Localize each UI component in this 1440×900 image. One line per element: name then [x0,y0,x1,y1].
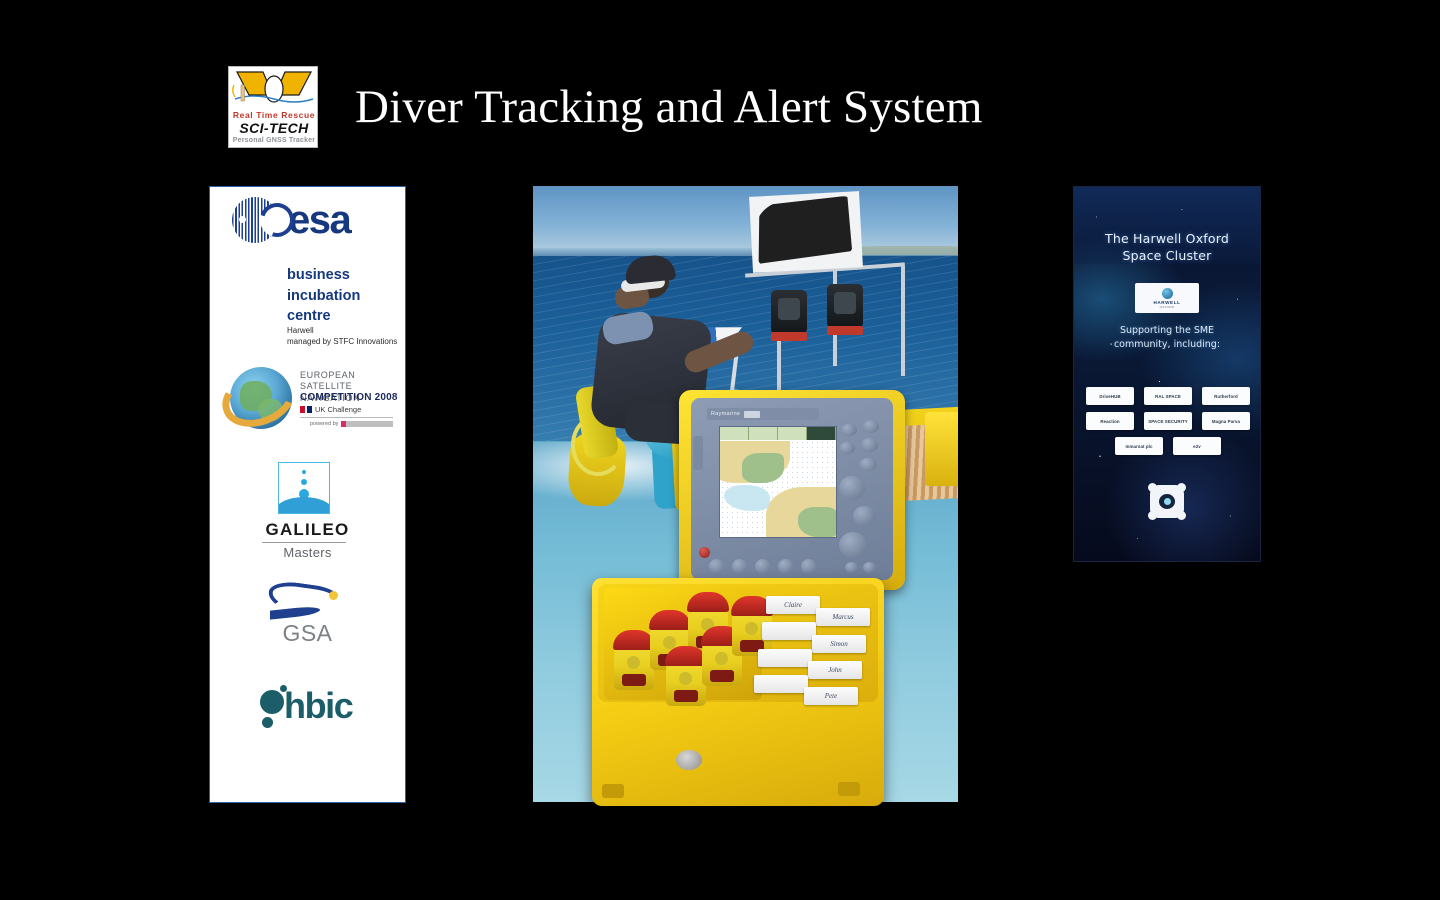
partner-logo[interactable]: Rutherford [1202,387,1250,405]
esa-sub-line-1: business [287,265,360,286]
plotter-key-aux-1[interactable] [845,562,858,573]
case-foot [602,784,624,798]
case-feet [592,782,884,798]
esa-logo-mark: esa [232,197,350,243]
partner-logo[interactable]: Inmarsat plc [1115,437,1163,455]
plotter-soft-button[interactable] [778,559,793,574]
name-card[interactable]: Simon [812,635,866,653]
logo-galileo-masters: GALILEO Masters [210,454,405,572]
cluster-icon-node-bl [1148,511,1157,520]
plotter-model-chip [744,411,760,418]
marine-chartplotter[interactable]: Raymarine [679,390,905,590]
partner-logo-grid: DriveHUB RAL SPACE Rutherford Reaction S… [1084,387,1252,455]
plotter-key-rotary[interactable] [853,506,875,526]
chart-landmass-north [719,441,790,483]
hbic-logo-mark: hbic [260,684,370,732]
page-title: Diver Tracking and Alert System [355,84,983,131]
plotter-key-aux-2[interactable] [863,562,876,573]
esnc-line-4: UK Challenge [315,405,361,414]
cluster-subtitle-line-1: Supporting the SME [1074,324,1260,338]
harwell-dot-icon [1162,288,1173,299]
harwell-badge: HARWELL OXFORD [1135,283,1199,313]
esa-sub-line-3: centre [287,306,360,327]
name-card[interactable] [762,622,816,640]
logo-esnc-2008: EUROPEAN SATELLITE NAVIGATION COMPETITIO… [210,359,405,454]
esnc-sponsor-mark-icon [341,421,393,427]
logo-esa-bic: esa business incubation centre Harwell m… [210,187,405,359]
cluster-title: The Harwell Oxford Space Cluster [1074,231,1260,265]
plotter-key-zoom-in[interactable] [839,442,855,454]
chart-landmass-south [766,487,837,538]
esnc-line-3: COMPETITION 2008 [300,392,398,403]
plotter-soft-button[interactable] [801,559,816,574]
sponsor-logo-panel: esa business incubation centre Harwell m… [209,186,406,803]
galileo-dot-small [302,470,306,474]
plotter-key-page[interactable] [863,420,879,433]
plotter-soft-button[interactable] [709,559,724,574]
harwell-space-cluster-panel: The Harwell Oxford Space Cluster HARWELL… [1073,186,1261,562]
case-foot [838,782,860,796]
tracker-window [674,690,698,702]
camera-housing-2 [827,284,863,328]
galileo-emblem-icon [278,462,330,514]
harwell-badge-sub: OXFORD [1160,305,1175,309]
chart-tab [778,427,807,440]
tracker-unit[interactable] [666,650,706,706]
name-card[interactable]: John [808,661,862,679]
name-card[interactable]: Marcus [816,608,870,626]
cluster-title-line-2: Space Cluster [1074,248,1260,265]
cluster-icon-node-tl [1148,483,1157,492]
rescue-graphic-icon [229,69,318,111]
chart-tab [749,427,778,440]
hbic-wordmark: hbic [284,686,352,726]
cluster-node-icon [1150,485,1184,518]
plotter-brand-bar: Raymarine [707,408,819,420]
cluster-icon-center [1159,494,1175,509]
plotter-brand-label: Raymarine [711,411,740,417]
plotter-card-slot[interactable] [693,436,703,470]
hbic-circle-large [260,690,284,714]
cluster-subtitle-line-2: community, including: [1074,338,1260,352]
plotter-soft-button[interactable] [755,559,770,574]
boat-rail-right [901,266,905,376]
esnc-powered-row: powered by [310,421,393,427]
plotter-soft-button[interactable] [732,559,747,574]
partner-logo[interactable]: e2v [1173,437,1221,455]
esa-subtitle: business incubation centre [287,265,360,327]
partner-logo[interactable]: Reaction [1086,412,1134,430]
name-card[interactable] [758,649,812,667]
slide-header: Real Time Rescue SCI-TECH Personal GNSS … [228,66,983,148]
gsa-wordmark: GSA [210,620,405,647]
cluster-subtitle: Supporting the SME community, including: [1074,324,1260,353]
chart-tab [720,427,749,440]
esa-small-text: Harwell managed by STFC Innovations [287,326,397,348]
plotter-soft-buttons[interactable] [709,559,816,574]
cluster-title-line-1: The Harwell Oxford [1074,231,1260,248]
partner-logo[interactable]: SPACE SECURITY [1144,412,1192,430]
esa-small-line-1: Harwell [287,326,397,337]
tracker-badge [679,672,692,685]
esnc-line-4-row: UK Challenge [300,405,361,414]
esa-wordmark: esa [288,204,350,236]
slide-canvas: Real Time Rescue SCI-TECH Personal GNSS … [0,0,1440,900]
camera-lens-2 [834,292,856,314]
cluster-icon-node-br [1177,511,1186,520]
tracker-badge [715,652,728,665]
logo-gsa: GSA [210,572,405,662]
partner-logo[interactable]: Magna Parva [1202,412,1250,430]
galileo-arc [278,497,330,514]
galileo-wordmark: GALILEO [210,520,405,540]
plotter-key-enter[interactable] [859,458,877,471]
camera-lens-1 [778,298,800,320]
name-card[interactable] [754,675,808,693]
esnc-divider [300,417,393,418]
hbic-circle-small [262,717,273,728]
chart-status-bar [720,427,836,440]
uk-flag-icon [300,406,312,413]
esnc-line-5: powered by [310,421,338,427]
galileo-divider [262,542,346,543]
cluster-icon-node-tr [1177,483,1186,492]
plotter-key-cursor-pad[interactable] [839,476,865,500]
name-card-grid: Claire Marcus Simon John Pete [766,592,870,704]
tracker-badge [627,656,640,669]
sci-tech-logo: Real Time Rescue SCI-TECH Personal GNSS … [228,66,318,148]
logo-hbic: hbic [210,662,405,762]
logo-line-2: SCI-TECH [229,120,318,136]
plotter-key-joystick[interactable] [839,532,867,558]
tracker-window [622,674,646,686]
esnc-orbit-icon [214,359,305,438]
deck-block-4 [925,412,958,486]
plotter-power-button[interactable] [699,547,710,558]
plotter-key-zoom-out[interactable] [861,438,878,452]
name-card[interactable]: Pete [804,687,858,705]
plotter-keypad[interactable] [839,424,891,574]
name-card[interactable]: Claire [766,596,820,614]
partner-logo[interactable]: RAL SPACE [1144,387,1192,405]
plotter-key-menu[interactable] [841,424,857,436]
galileo-subtitle: Masters [210,545,405,560]
plotter-screen[interactable] [719,426,837,538]
partner-logo[interactable]: DriveHUB [1086,387,1134,405]
tracker-badge [745,622,758,635]
case-latch[interactable] [676,750,702,770]
dive-flag-black-white [749,191,863,273]
esnc-line-1: EUROPEAN [300,370,405,381]
tracker-transit-case[interactable]: Claire Marcus Simon John Pete [592,578,884,806]
logo-line-3: Personal GNSS Tracker [229,137,318,144]
gsa-star-icon [329,591,338,600]
esa-sub-line-2: incubation [287,286,360,307]
tracker-window [710,670,734,682]
tracker-unit[interactable] [614,634,654,690]
chart-tab [807,427,836,440]
logo-line-1: Real Time Rescue [229,110,318,120]
gsa-tail-icon [270,605,320,619]
galileo-dot-medium [301,479,307,485]
esa-small-line-2: managed by STFC Innovations [287,337,397,348]
camera-housing-1 [771,290,807,334]
